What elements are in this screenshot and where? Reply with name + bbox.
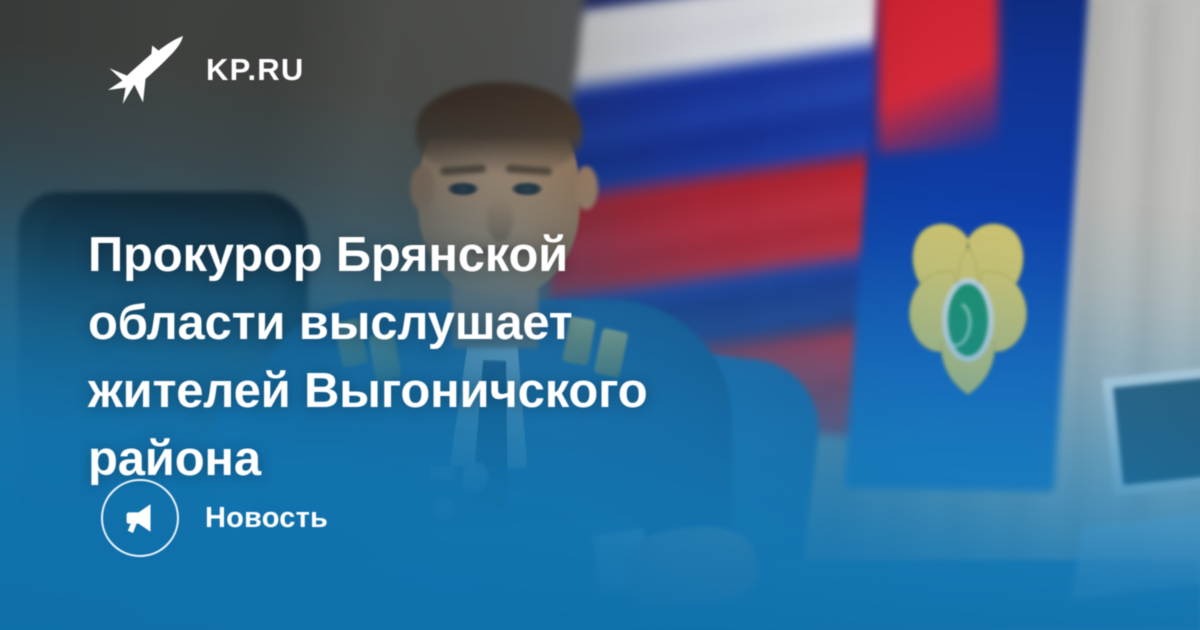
badge-label: Новость xyxy=(205,504,328,533)
megaphone-icon xyxy=(121,499,159,537)
brand-name: KP.RU xyxy=(206,54,304,85)
brand-logo[interactable]: KP.RU xyxy=(106,32,304,106)
social-share-card: KP.RU Прокурор Брянской области выслушае… xyxy=(0,0,1200,630)
status-badge[interactable]: Новость xyxy=(101,479,328,557)
page-title: Прокурор Брянской области выслушает жите… xyxy=(88,221,778,493)
swallow-bird-icon xyxy=(106,32,184,106)
badge-icon-circle xyxy=(101,479,179,557)
